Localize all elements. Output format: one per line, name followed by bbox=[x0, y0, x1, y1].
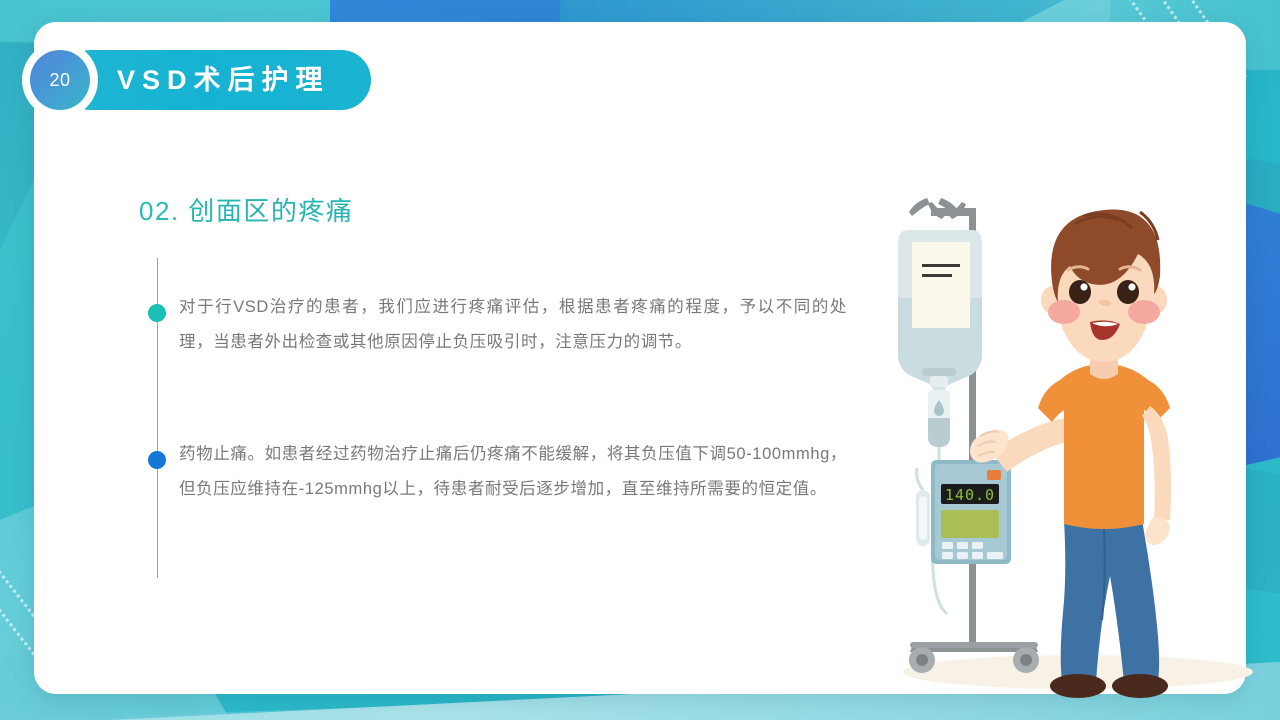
section-heading-text: 创面区的疼痛 bbox=[188, 196, 353, 226]
bullet-text: 对于行VSD治疗的患者，我们应进行疼痛评估，根据患者疼痛的程度，予以不同的处理，… bbox=[179, 290, 847, 360]
slide-stage: VSD术后护理 20 02. 创面区的疼痛 对于行VSD治疗的患者，我们应进行疼… bbox=[0, 0, 1280, 720]
pump-display-value: 140.0 bbox=[945, 486, 995, 504]
pump-indicator-light bbox=[987, 470, 1001, 480]
illustration-boy-with-iv-pole: 140.0 bbox=[888, 190, 1258, 710]
section-heading: 02. 创面区的疼痛 bbox=[139, 191, 353, 228]
boy-shoe-right bbox=[1112, 674, 1168, 698]
boy-shoe-left bbox=[1050, 674, 1106, 698]
boy-shirt bbox=[1038, 364, 1170, 529]
bullet-dot-teal bbox=[148, 304, 166, 322]
slide-title-pill: VSD术后护理 bbox=[61, 50, 371, 110]
boy-cheek-right bbox=[1128, 300, 1160, 324]
bullet-list: 对于行VSD治疗的患者，我们应进行疼痛评估，根据患者疼痛的程度，予以不同的处理，… bbox=[157, 258, 158, 578]
section-number: 02. bbox=[139, 196, 180, 226]
bullet-timeline-line: 对于行VSD治疗的患者，我们应进行疼痛评估，根据患者疼痛的程度，予以不同的处理，… bbox=[157, 258, 158, 578]
bullet-dot-blue bbox=[148, 451, 166, 469]
infusion-pump: 140.0 bbox=[916, 460, 1011, 564]
pump-screen bbox=[941, 510, 999, 538]
page-title: VSD术后护理 bbox=[117, 67, 330, 94]
boy-right-arm bbox=[1142, 406, 1171, 520]
iv-bag-label bbox=[912, 242, 970, 328]
boy-right-hand bbox=[1146, 518, 1170, 546]
boy-cheek-left bbox=[1048, 300, 1080, 324]
slide-number-label: 20 bbox=[49, 70, 70, 91]
slide-number-badge-ring: 20 bbox=[22, 42, 98, 118]
bullet-text: 药物止痛。如患者经过药物治疗止痛后仍疼痛不能缓解，将其负压值下调50-100mm… bbox=[179, 437, 847, 507]
boy-character bbox=[970, 210, 1171, 698]
slide-number-badge: 20 bbox=[30, 50, 90, 110]
